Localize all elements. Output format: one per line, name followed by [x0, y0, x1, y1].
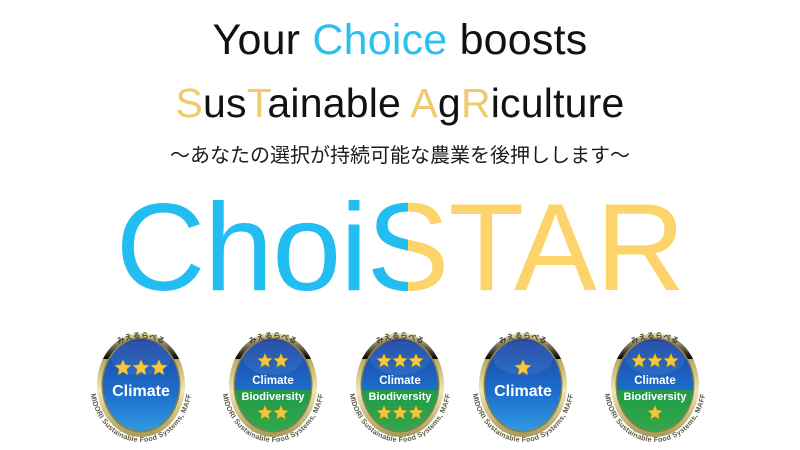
headline-letter-r: R	[461, 80, 491, 126]
headline-frag-iculture: iculture	[491, 80, 625, 126]
badge-climate-3-biodiversity-1[interactable]: ClimateBiodiversityみえるらべるMIDORI Sustaina…	[592, 328, 718, 446]
badge-climate-label: Climate	[252, 375, 294, 387]
badge-climate-label: Climate	[634, 375, 676, 387]
headline-letter-a: A	[410, 80, 438, 126]
badge-biodiversity-label: Biodiversity	[242, 391, 306, 403]
wordmark-part-s-split: SS	[367, 182, 449, 314]
wordmark-choistar: ChoiSSTAR	[0, 182, 800, 314]
badge-climate-3-biodiversity-3[interactable]: ClimateBiodiversityみえるらべるMIDORI Sustaina…	[337, 328, 463, 446]
badge-biodiversity-label: Biodiversity	[369, 391, 433, 403]
badge-climate-2-biodiversity-2[interactable]: ClimateBiodiversityみえるらべるMIDORI Sustaina…	[210, 328, 336, 446]
wordmark-s-cyan-overlay: S	[367, 182, 408, 314]
headline-letter-s: S	[175, 80, 203, 126]
headline-word-boosts: boosts	[447, 16, 587, 64]
badge-climate-1[interactable]: ClimateみえるらべるMIDORI Sustainable Food Sys…	[460, 328, 586, 446]
headline-line-1: Your Choice boosts	[0, 14, 800, 66]
badge-climate-3[interactable]: ClimateみえるらべるMIDORI Sustainable Food Sys…	[78, 328, 204, 446]
certification-badge-row: ClimateみえるらべるMIDORI Sustainable Food Sys…	[0, 328, 800, 446]
badge-gloss	[243, 341, 303, 375]
badge-climate-label: Climate	[112, 383, 170, 400]
wordmark-part-choi: Choi	[116, 179, 367, 317]
headline-word-your: Your	[213, 16, 313, 64]
headline-frag-g: g	[438, 80, 461, 126]
badge-biodiversity-label: Biodiversity	[624, 391, 688, 403]
japanese-subtitle: 〜あなたの選択が持続可能な農業を後押しします〜	[0, 142, 800, 168]
headline-frag-us: us	[203, 80, 247, 126]
headline-word-choice: Choice	[312, 16, 447, 64]
poster-canvas: Your Choice boosts SusTainable AgRicultu…	[0, 0, 800, 450]
headline-frag-ainable: ainable	[267, 80, 410, 126]
badge-climate-label: Climate	[379, 375, 421, 387]
badge-climate-label: Climate	[494, 383, 552, 400]
headline-line-2: SusTainable AgRiculture	[0, 78, 800, 128]
headline-block: Your Choice boosts SusTainable AgRicultu…	[0, 14, 800, 128]
wordmark-part-tar: TAR	[448, 179, 684, 317]
headline-letter-t: T	[247, 80, 268, 126]
